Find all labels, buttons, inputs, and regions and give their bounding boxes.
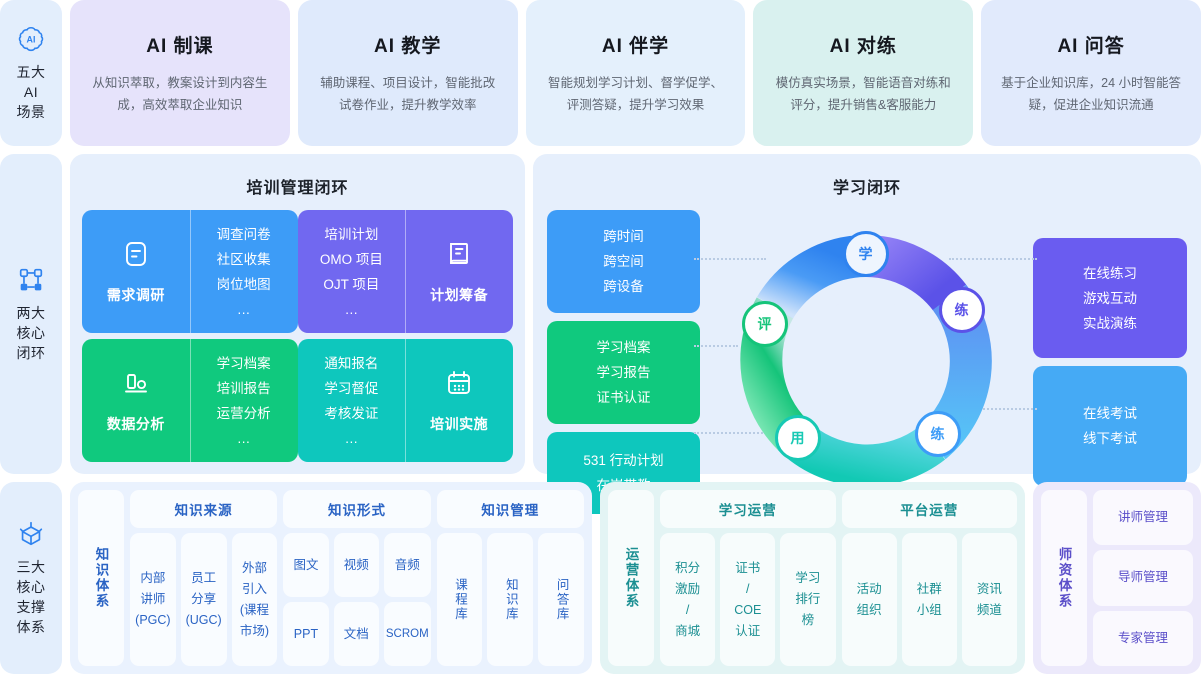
learning-chip-lines: 在线考试线下考试 bbox=[1083, 401, 1137, 451]
training-cell-lines: 调查问卷社区收集岗位地图… bbox=[217, 222, 271, 322]
knowledge-system-panel: 知识体系 知识来源 内部讲师(PGC) 员工分享(UGC) 外部引入(课程市场) bbox=[70, 482, 592, 674]
chip-mentor-management[interactable]: 导师管理 bbox=[1093, 550, 1193, 605]
learning-chip-lines: 跨时间跨空间跨设备 bbox=[603, 224, 644, 299]
chip-column: 积分激励/商城 bbox=[660, 533, 715, 666]
group-head: 学习运营 bbox=[660, 490, 836, 528]
training-cell-lines: 学习档案培训报告运营分析… bbox=[217, 351, 271, 451]
chip-community-group[interactable]: 社群小组 bbox=[902, 533, 957, 666]
chip-column: 知识库 bbox=[487, 533, 533, 666]
chip-column: 视频 文档 bbox=[334, 533, 379, 666]
operations-system-panel: 运营体系 学习运营 积分激励/商城 证书/COE认证 学习排行榜 平台运营 bbox=[600, 482, 1025, 674]
chip-text-image[interactable]: 图文 bbox=[283, 533, 328, 597]
learning-chip-records[interactable]: 学习档案学习报告证书认证 bbox=[547, 321, 700, 424]
learning-chip-lines: 学习档案学习报告证书认证 bbox=[597, 335, 651, 410]
chip-column: 员工分享(UGC) bbox=[181, 533, 227, 666]
teacher-system-panel: 师资体系 讲师管理 导师管理 专家管理 bbox=[1033, 482, 1201, 674]
rail-support-systems: 三大核心支撑体系 bbox=[0, 482, 62, 674]
chip-column: 社群小组 bbox=[902, 533, 957, 666]
ai-card-1[interactable]: AI 教学 辅助课程、项目设计，智能批改试卷作业，提升教学效率 bbox=[298, 0, 518, 146]
ring-node-ping[interactable]: 评 bbox=[742, 301, 788, 347]
chart-icon bbox=[120, 367, 152, 404]
chip-qa-library[interactable]: 问答库 bbox=[538, 533, 584, 666]
infographic-page: AI 五大AI场景 AI 制课 从知识萃取，教案设计到内容生成，高效萃取企业知识… bbox=[0, 0, 1201, 674]
knowledge-management-group: 知识管理 课程库 知识库 问答库 bbox=[437, 490, 584, 666]
ring-node-label: 评 bbox=[758, 314, 772, 334]
ring-node-label: 学 bbox=[859, 244, 873, 264]
training-cell-plan-items[interactable]: 培训计划OMO 项目OJT 项目… bbox=[298, 210, 406, 333]
book-icon bbox=[443, 238, 475, 275]
ring-node-xue[interactable]: 学 bbox=[843, 231, 889, 277]
learning-loop-panel: 学习闭环 跨时间跨空间跨设备 学习档案学习报告证书认证 531 行动计划在岗带教 bbox=[533, 154, 1201, 474]
chip-employee-share[interactable]: 员工分享(UGC) bbox=[181, 533, 227, 666]
chip-column: 学习排行榜 bbox=[780, 533, 835, 666]
chip-column: 音频 SCROM bbox=[384, 533, 431, 666]
chip-column: 问答库 bbox=[538, 533, 584, 666]
ring-node-label: 练 bbox=[955, 300, 969, 320]
ai-card-desc: 基于企业知识库，24 小时智能答疑，促进企业知识流通 bbox=[999, 72, 1183, 116]
ai-card-title: AI 问答 bbox=[1057, 31, 1124, 58]
ai-card-desc: 辅助课程、项目设计，智能批改试卷作业，提升教学效率 bbox=[316, 72, 500, 116]
learning-loop-title: 学习闭环 bbox=[545, 166, 1189, 210]
operations-system-label: 运营体系 bbox=[608, 490, 654, 666]
ring-node-lian-practice[interactable]: 练 bbox=[939, 287, 985, 333]
group-head: 知识来源 bbox=[130, 490, 277, 528]
ai-card-2[interactable]: AI 伴学 智能规划学习计划、督学促学、评测答疑，提升学习效果 bbox=[526, 0, 746, 146]
connector-left-mid bbox=[694, 345, 738, 347]
ai-brain-icon: AI bbox=[16, 24, 46, 54]
chip-column: 外部引入(课程市场) bbox=[232, 533, 278, 666]
training-cell-caption: 数据分析 bbox=[107, 414, 165, 434]
chip-audio[interactable]: 音频 bbox=[384, 533, 431, 597]
survey-icon bbox=[120, 238, 152, 275]
training-cell-caption: 培训实施 bbox=[430, 414, 488, 434]
training-cell-exec[interactable]: 培训实施 bbox=[405, 339, 513, 462]
learning-chip-practice[interactable]: 在线练习游戏互动实战演练 bbox=[1033, 238, 1187, 358]
learning-operations-group: 学习运营 积分激励/商城 证书/COE认证 学习排行榜 bbox=[660, 490, 836, 666]
training-loop-grid: 需求调研 调查问卷社区收集岗位地图… 培训计划OMO 项目OJT 项目… bbox=[82, 210, 513, 462]
chip-document[interactable]: 文档 bbox=[334, 602, 379, 666]
learning-ring: 学 练 练 用 评 bbox=[700, 210, 1031, 514]
group-body: 活动组织 社群小组 资讯频道 bbox=[842, 533, 1018, 666]
chip-course-library[interactable]: 课程库 bbox=[437, 533, 483, 666]
ai-card-title: AI 制课 bbox=[146, 31, 213, 58]
training-cell-exec-items[interactable]: 通知报名学习督促考核发证… bbox=[298, 339, 406, 462]
training-loop-panel: 培训管理闭环 需求调研 调查问卷社区收集岗位地图… bbox=[70, 154, 525, 474]
training-cell-plan[interactable]: 计划筹备 bbox=[405, 210, 513, 333]
learning-left-chips: 跨时间跨空间跨设备 学习档案学习报告证书认证 531 行动计划在岗带教 bbox=[545, 210, 700, 514]
chip-certificate-coe[interactable]: 证书/COE认证 bbox=[720, 533, 775, 666]
learning-right-chips: 在线练习游戏互动实战演练 在线考试线下考试 bbox=[1031, 210, 1189, 514]
platform-operations-group: 平台运营 活动组织 社群小组 资讯频道 bbox=[842, 490, 1018, 666]
ai-card-desc: 从知识萃取，教案设计到内容生成，高效萃取企业知识 bbox=[88, 72, 272, 116]
chip-internal-trainer[interactable]: 内部讲师(PGC) bbox=[130, 533, 176, 666]
chip-video[interactable]: 视频 bbox=[334, 533, 379, 597]
teacher-system-label: 师资体系 bbox=[1041, 490, 1087, 666]
learning-chip-lines: 在线练习游戏互动实战演练 bbox=[1083, 261, 1137, 336]
training-cell-lines: 通知报名学习督促考核发证… bbox=[324, 351, 378, 451]
group-head: 平台运营 bbox=[842, 490, 1018, 528]
learning-chip-anytime[interactable]: 跨时间跨空间跨设备 bbox=[547, 210, 700, 313]
rail-core-loops: 两大核心闭环 bbox=[0, 154, 62, 474]
ring-node-yong[interactable]: 用 bbox=[775, 415, 821, 461]
svg-text:AI: AI bbox=[27, 34, 36, 44]
chip-column: 图文 PPT bbox=[283, 533, 328, 666]
chip-news-channel[interactable]: 资讯频道 bbox=[962, 533, 1017, 666]
training-cell-caption: 需求调研 bbox=[107, 285, 165, 305]
ring-node-lian-exam[interactable]: 练 bbox=[915, 411, 961, 457]
training-cell-caption: 计划筹备 bbox=[430, 285, 488, 305]
training-cell-survey-items[interactable]: 调查问卷社区收集岗位地图… bbox=[190, 210, 298, 333]
ring-node-label: 用 bbox=[791, 428, 805, 448]
ai-card-title: AI 对练 bbox=[830, 31, 897, 58]
chip-expert-management[interactable]: 专家管理 bbox=[1093, 611, 1193, 666]
chip-external-import[interactable]: 外部引入(课程市场) bbox=[232, 533, 278, 666]
ai-card-3[interactable]: AI 对练 模仿真实场景，智能语音对练和评分，提升销售&客服能力 bbox=[753, 0, 973, 146]
knowledge-source-group: 知识来源 内部讲师(PGC) 员工分享(UGC) 外部引入(课程市场) bbox=[130, 490, 277, 666]
group-body: 积分激励/商城 证书/COE认证 学习排行榜 bbox=[660, 533, 836, 666]
ai-card-0[interactable]: AI 制课 从知识萃取，教案设计到内容生成，高效萃取企业知识 bbox=[70, 0, 290, 146]
calendar-icon bbox=[443, 367, 475, 404]
training-cell-survey[interactable]: 需求调研 bbox=[82, 210, 190, 333]
rail-label-core-loops: 两大核心闭环 bbox=[17, 303, 46, 363]
ai-card-title: AI 教学 bbox=[374, 31, 441, 58]
node-network-icon bbox=[16, 265, 46, 295]
ai-card-4[interactable]: AI 问答 基于企业知识库，24 小时智能答疑，促进企业知识流通 bbox=[981, 0, 1201, 146]
ai-scenarios-row: AI 五大AI场景 AI 制课 从知识萃取，教案设计到内容生成，高效萃取企业知识… bbox=[0, 0, 1201, 146]
training-loop-title: 培训管理闭环 bbox=[82, 166, 513, 210]
knowledge-system-label: 知识体系 bbox=[78, 490, 124, 666]
chip-knowledge-library[interactable]: 知识库 bbox=[487, 533, 533, 666]
group-body: 图文 PPT 视频 文档 音频 SCROM bbox=[283, 533, 430, 666]
rail-ai-scenarios: AI 五大AI场景 bbox=[0, 0, 62, 146]
knowledge-format-group: 知识形式 图文 PPT 视频 文档 音频 SCROM bbox=[283, 490, 430, 666]
core-loops-row: 两大核心闭环 培训管理闭环 需求调研 调查问卷社区收集岗位 bbox=[0, 154, 1201, 474]
ai-card-title: AI 伴学 bbox=[602, 31, 669, 58]
group-body: 课程库 知识库 问答库 bbox=[437, 533, 584, 666]
chip-column: 课程库 bbox=[437, 533, 483, 666]
ai-card-desc: 智能规划学习计划、督学促学、评测答疑，提升学习效果 bbox=[544, 72, 728, 116]
chip-column: 活动组织 bbox=[842, 533, 897, 666]
chip-column: 资讯频道 bbox=[962, 533, 1017, 666]
training-cell-analytics[interactable]: 数据分析 bbox=[82, 339, 190, 462]
chip-activity-organization[interactable]: 活动组织 bbox=[842, 533, 897, 666]
cube-icon bbox=[16, 519, 46, 549]
chip-column: 内部讲师(PGC) bbox=[130, 533, 176, 666]
teacher-items-group: 讲师管理 导师管理 专家管理 bbox=[1093, 490, 1193, 666]
ai-card-desc: 模仿真实场景，智能语音对练和评分，提升销售&客服能力 bbox=[771, 72, 955, 116]
chip-leaderboard[interactable]: 学习排行榜 bbox=[780, 533, 835, 666]
chip-instructor-management[interactable]: 讲师管理 bbox=[1093, 490, 1193, 545]
support-systems-row: 三大核心支撑体系 知识体系 知识来源 内部讲师(PGC) 员工分享(UGC) 外… bbox=[0, 482, 1201, 674]
rail-label-support-systems: 三大核心支撑体系 bbox=[17, 557, 46, 637]
group-head: 知识管理 bbox=[437, 490, 584, 528]
chip-points-incentive[interactable]: 积分激励/商城 bbox=[660, 533, 715, 666]
chip-scrom[interactable]: SCROM bbox=[384, 602, 431, 666]
training-cell-lines: 培训计划OMO 项目OJT 项目… bbox=[320, 222, 383, 322]
ring-node-label: 练 bbox=[931, 424, 945, 444]
learning-chip-exam[interactable]: 在线考试线下考试 bbox=[1033, 366, 1187, 486]
group-body: 内部讲师(PGC) 员工分享(UGC) 外部引入(课程市场) bbox=[130, 533, 277, 666]
training-cell-analytics-items[interactable]: 学习档案培训报告运营分析… bbox=[190, 339, 298, 462]
learning-loop-body: 跨时间跨空间跨设备 学习档案学习报告证书认证 531 行动计划在岗带教 bbox=[545, 210, 1189, 514]
chip-ppt[interactable]: PPT bbox=[283, 602, 328, 666]
chip-column: 证书/COE认证 bbox=[720, 533, 775, 666]
group-head: 知识形式 bbox=[283, 490, 430, 528]
rail-label-ai-scenarios: 五大AI场景 bbox=[17, 62, 46, 122]
